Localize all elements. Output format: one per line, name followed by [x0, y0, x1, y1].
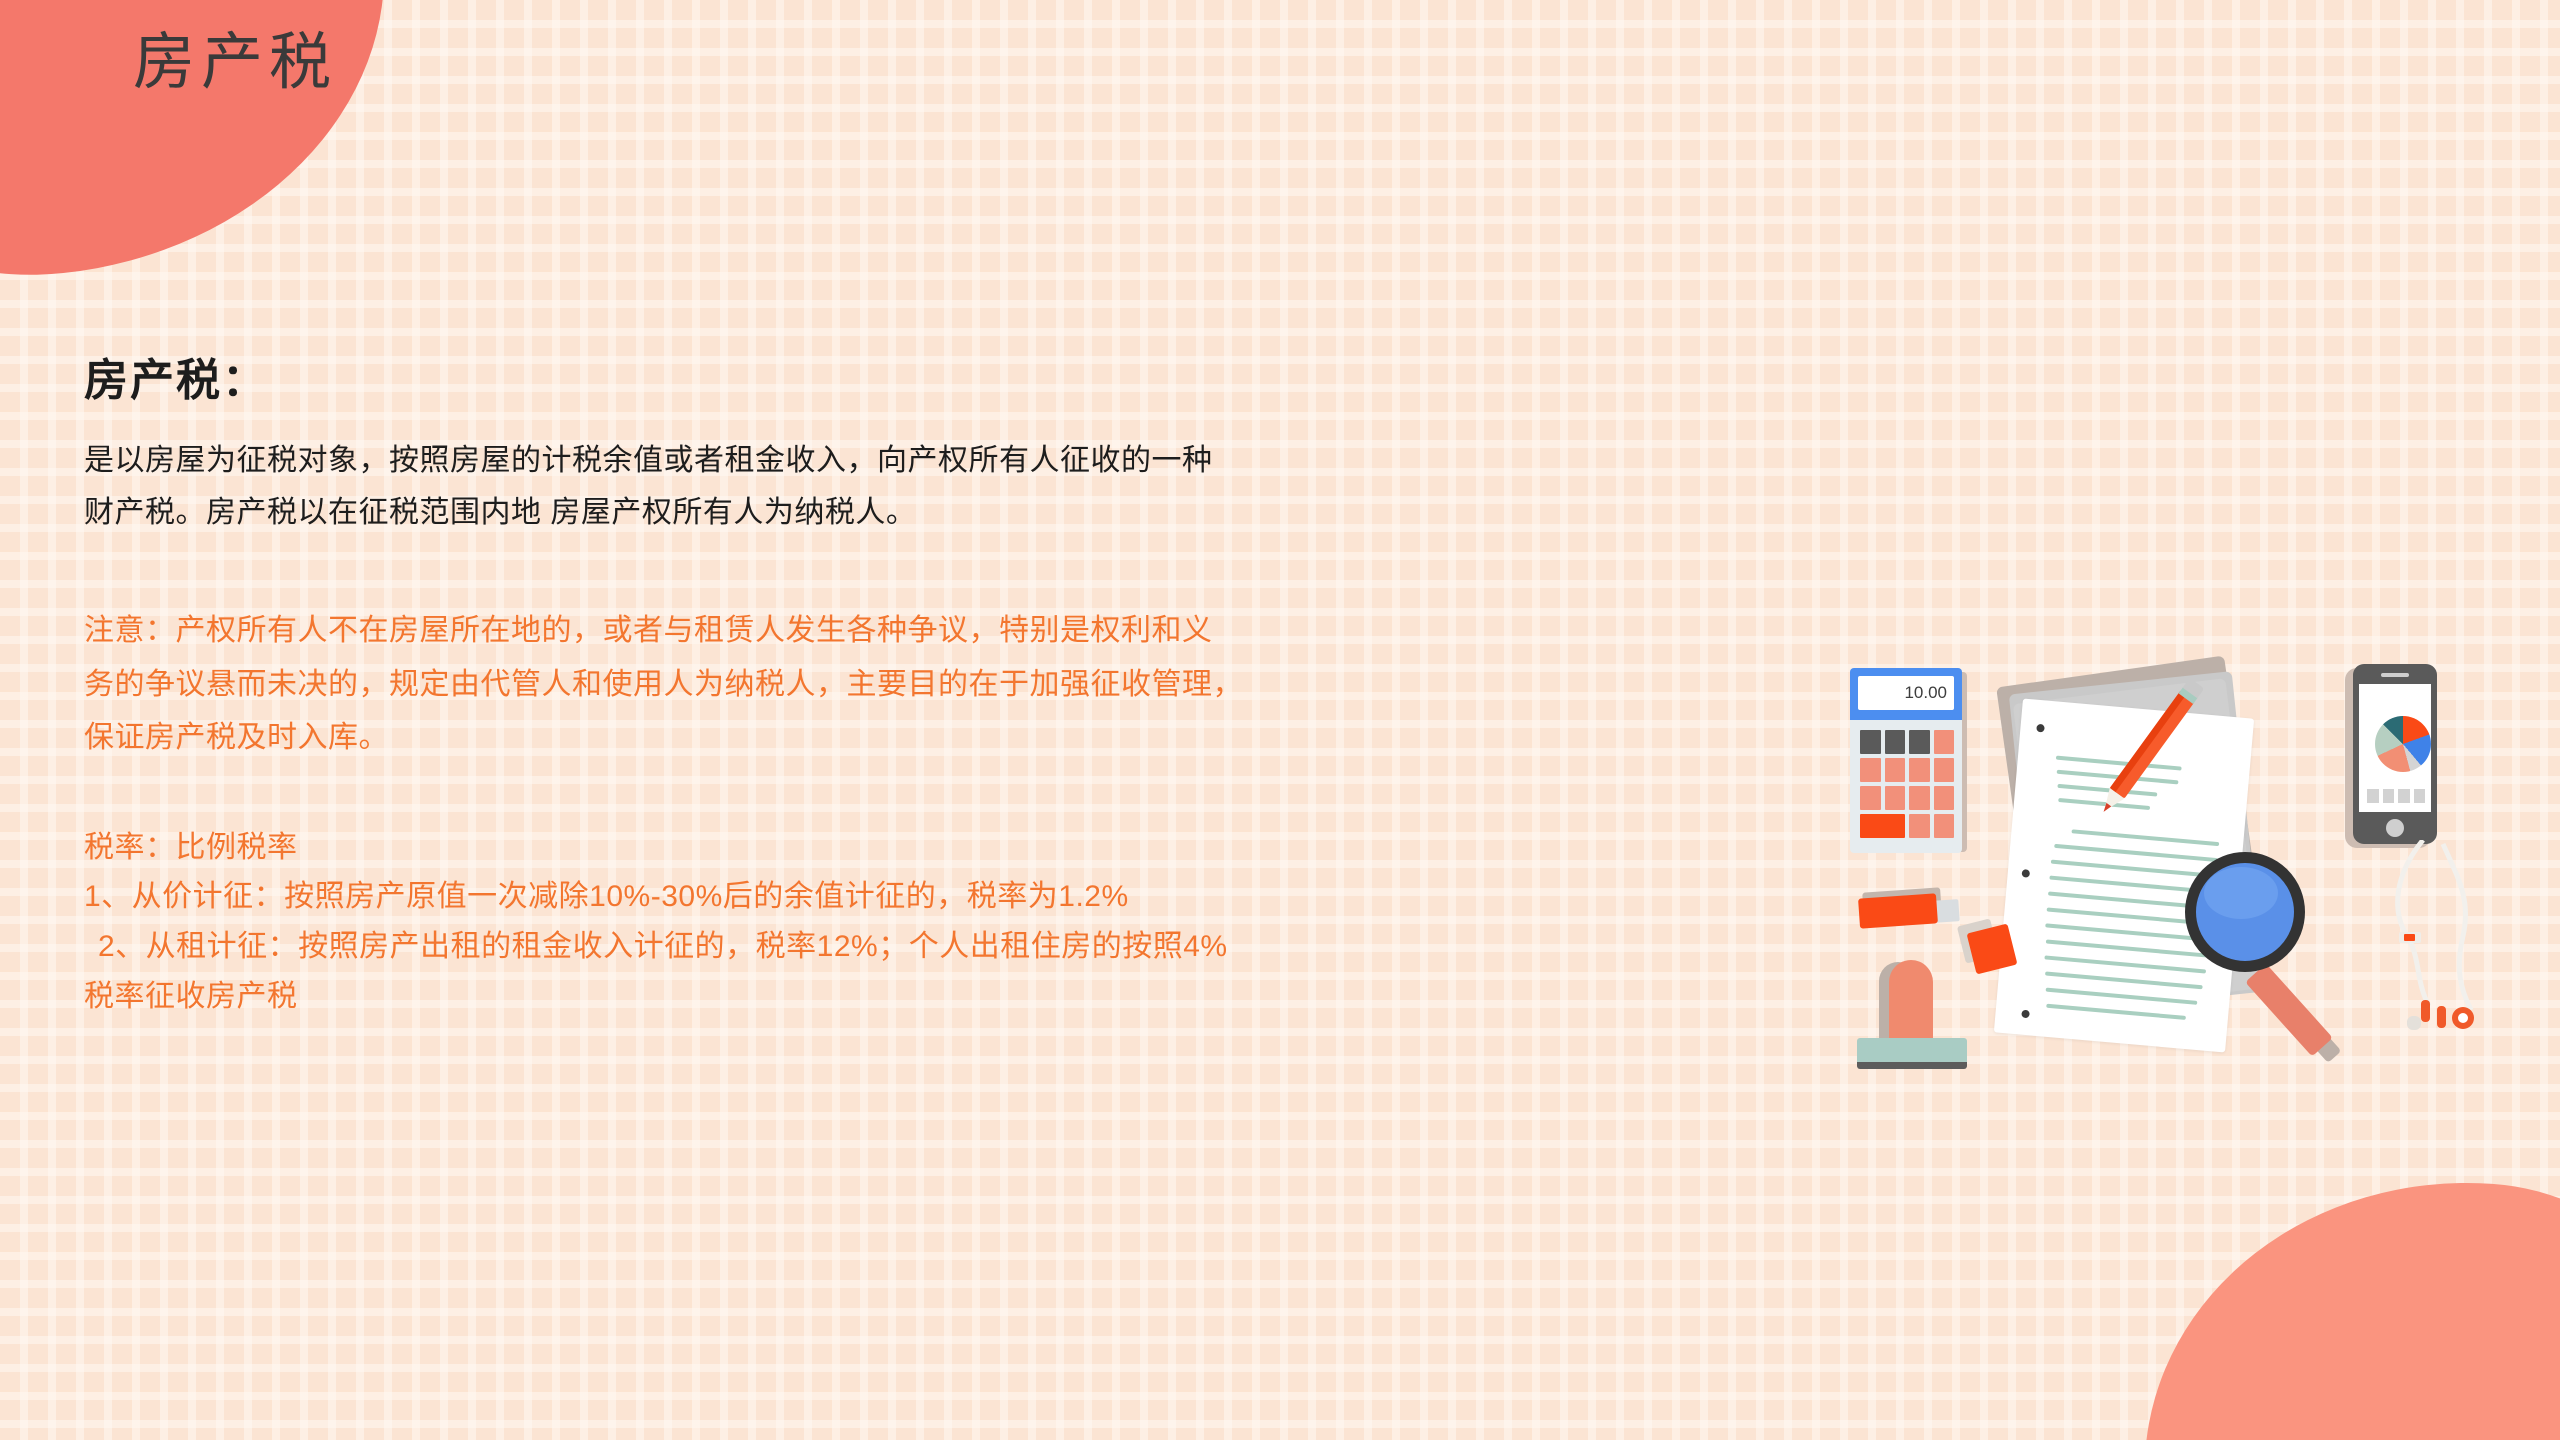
- calculator-key: [1934, 758, 1955, 782]
- content-area: 房产税： 是以房屋为征税对象，按照房屋的计税余值或者租金收入，向产权所有人征收的…: [84, 352, 1784, 1022]
- calculator-key: [1860, 730, 1881, 754]
- paper-line: [2046, 1004, 2186, 1020]
- paper-line: [2045, 972, 2203, 990]
- rates-block: 税率：比例税率 1、从价计征：按照房产原值一次减除10%-30%后的余值计征的，…: [84, 823, 1784, 1022]
- calculator-key: [1860, 786, 1881, 810]
- calculator-key: [1860, 758, 1881, 782]
- decorative-blob-bottom-right: [2136, 1161, 2560, 1440]
- calculator-key: [1934, 814, 1955, 838]
- spacer-1: [84, 538, 1784, 604]
- stamp-base-edge: [1857, 1062, 1967, 1069]
- page-title: 房产税: [133, 24, 337, 102]
- calculator-key: [1909, 758, 1930, 782]
- calculator-key: [1934, 786, 1955, 810]
- magnifier-handle: [2245, 963, 2333, 1056]
- paper-hole-icon: [2036, 724, 2045, 733]
- note-block: 注意：产权所有人不在房屋所在地的，或者与租赁人发生各种争议，特别是权利和义 务的…: [84, 604, 1784, 764]
- rates-item-3: 税率征收房产税: [84, 972, 1784, 1022]
- definition-line-2: 财产税。房产税以在征税范围内地 房屋产权所有人为纳税人。: [84, 487, 1784, 539]
- paper-line: [2046, 939, 2210, 957]
- rubber-stamp-icon: [1889, 960, 1933, 1048]
- note-line-3: 保证房产税及时入库。: [84, 711, 1784, 764]
- note-line-1: 注意：产权所有人不在房屋所在地的，或者与租赁人发生各种争议，特别是权利和义: [84, 604, 1784, 657]
- section-heading: 房产税：: [84, 352, 1784, 409]
- phone-screen: [2359, 684, 2431, 812]
- calculator-key: [1909, 730, 1930, 754]
- earphones-icon: [2385, 840, 2505, 1040]
- calculator-key: [1934, 730, 1955, 754]
- rates-item-1: 1、从价计征：按照房产原值一次减除10%-30%后的余值计征的，税率为1.2%: [84, 872, 1784, 922]
- phone-legend-bars: [2367, 789, 2425, 803]
- tax-office-illustration: 10.00: [1845, 660, 2485, 1080]
- slide-canvas: 房产税 房产税： 是以房屋为征税对象，按照房屋的计税余值或者租金收入，向产权所有…: [0, 0, 2560, 1440]
- paper-line: [2051, 860, 2219, 879]
- phone-home-button-icon[interactable]: [2386, 819, 2404, 837]
- paper-line: [2071, 829, 2219, 846]
- pie-chart-icon: [2375, 716, 2431, 772]
- paper-line: [2054, 844, 2218, 862]
- magnifying-glass-icon: [2185, 852, 2305, 972]
- definition-line-1: 是以房屋为征税对象，按照房屋的计税余值或者租金收入，向产权所有人征收的一种: [84, 435, 1784, 487]
- rates-title: 税率：比例税率: [84, 823, 1784, 873]
- calculator-key: [1885, 730, 1906, 754]
- paper-line: [2044, 955, 2206, 973]
- calculator-key: [1909, 814, 1930, 838]
- spacer-2: [84, 765, 1784, 823]
- paper-line: [2056, 756, 2182, 771]
- calculator-display: 10.00: [1858, 676, 1954, 710]
- usb-drive-icon: [1858, 893, 1938, 928]
- definition-block: 是以房屋为征税对象，按照房屋的计税余值或者租金收入，向产权所有人征收的一种 财产…: [84, 435, 1784, 538]
- paper-hole-icon: [2021, 1010, 2030, 1019]
- note-line-2: 务的争议悬而未决的，规定由代管人和使用人为纳税人，主要目的在于加强征收管理，: [84, 658, 1784, 711]
- rates-item-2: 2、从租计征：按照房产出租的租金收入计征的，税率12%；个人出租住房的按照4%: [84, 922, 1784, 972]
- paper-line: [2046, 988, 2198, 1005]
- calculator-key: [1885, 786, 1906, 810]
- smartphone-icon: [2353, 664, 2437, 844]
- paper-hole-icon: [2021, 869, 2030, 878]
- calculator-keypad: [1860, 730, 1954, 838]
- calculator-key-equals: [1860, 814, 1905, 838]
- calculator-key: [1909, 786, 1930, 810]
- calculator-key: [1885, 758, 1906, 782]
- phone-speaker-icon: [2381, 673, 2409, 677]
